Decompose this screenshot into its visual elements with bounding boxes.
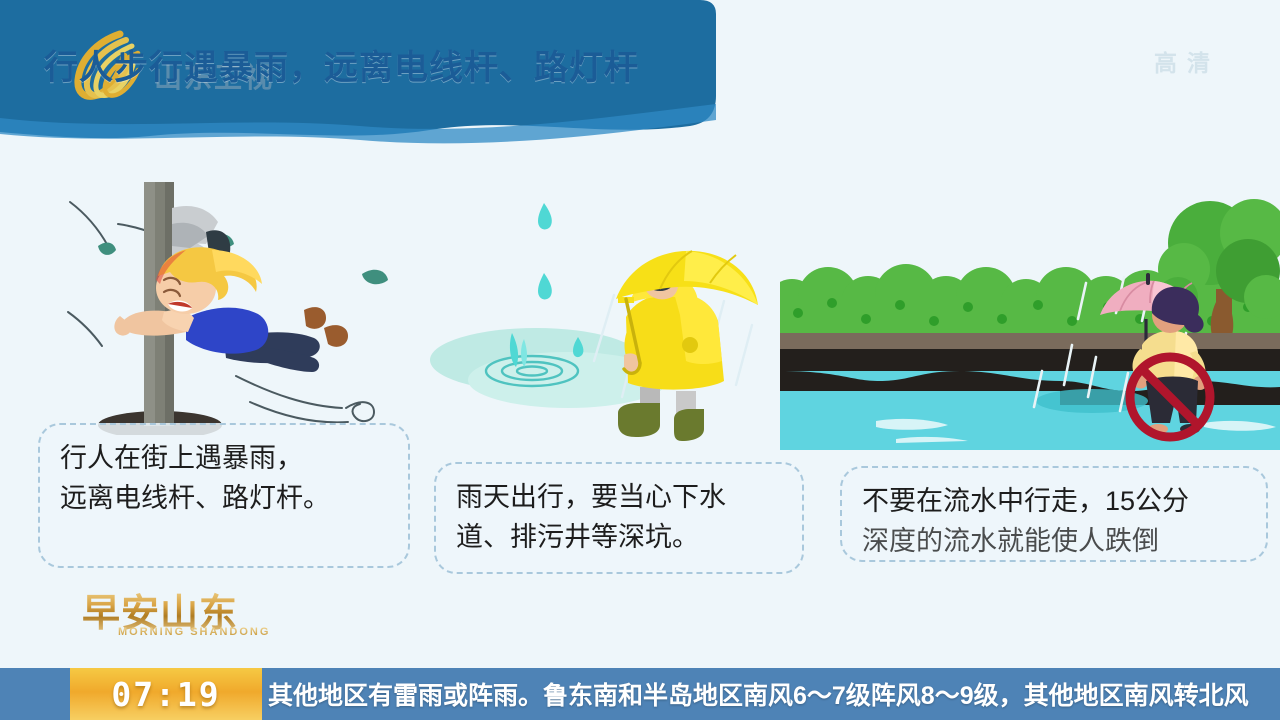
caption-line: 雨天出行，要当心下水 [456, 478, 782, 518]
illustration-flooded-road [780, 185, 1280, 450]
caption-line: 深度的流水就能使人跌倒 [862, 522, 1246, 562]
illustration-raincoat-puddle [428, 185, 778, 450]
clock-time: 07:19 [111, 675, 220, 714]
illustration-wind-pole [60, 180, 430, 435]
caption-line: 行人在街上遇暴雨， [60, 439, 388, 479]
clock-badge: 07:19 [70, 668, 262, 720]
caption-line: 不要在流水中行走，15公分 [862, 482, 1246, 522]
caption-bubble-2: 雨天出行，要当心下水 道、排污井等深坑。 [434, 462, 804, 574]
broadcast-screen: 山东卫视 行人步行遇暴雨，远离电线杆、路灯杆 高清 [0, 0, 1280, 720]
page-title: 行人步行遇暴雨，远离电线杆、路灯杆 [44, 40, 804, 89]
caption-bubble-3: 不要在流水中行走，15公分 深度的流水就能使人跌倒 [840, 466, 1268, 562]
program-logo: 早安山东 MORNING SHANDONG [70, 580, 270, 650]
ticker-text: 其他地区有雷雨或阵雨。鲁东南和半岛地区南风6～7级阵风8～9级，其他地区南风转北… [268, 668, 1249, 720]
program-logo-en: MORNING SHANDONG [118, 626, 270, 638]
caption-line: 远离电线杆、路灯杆。 [60, 479, 388, 519]
caption-bubble-1: 行人在街上遇暴雨， 远离电线杆、路灯杆。 [38, 423, 410, 568]
caption-line: 道、排污井等深坑。 [456, 518, 782, 558]
hd-badge: 高清 [1154, 44, 1220, 78]
news-ticker-bar: 07:19 其他地区有雷雨或阵雨。鲁东南和半岛地区南风6～7级阵风8～9级，其他… [0, 668, 1280, 720]
